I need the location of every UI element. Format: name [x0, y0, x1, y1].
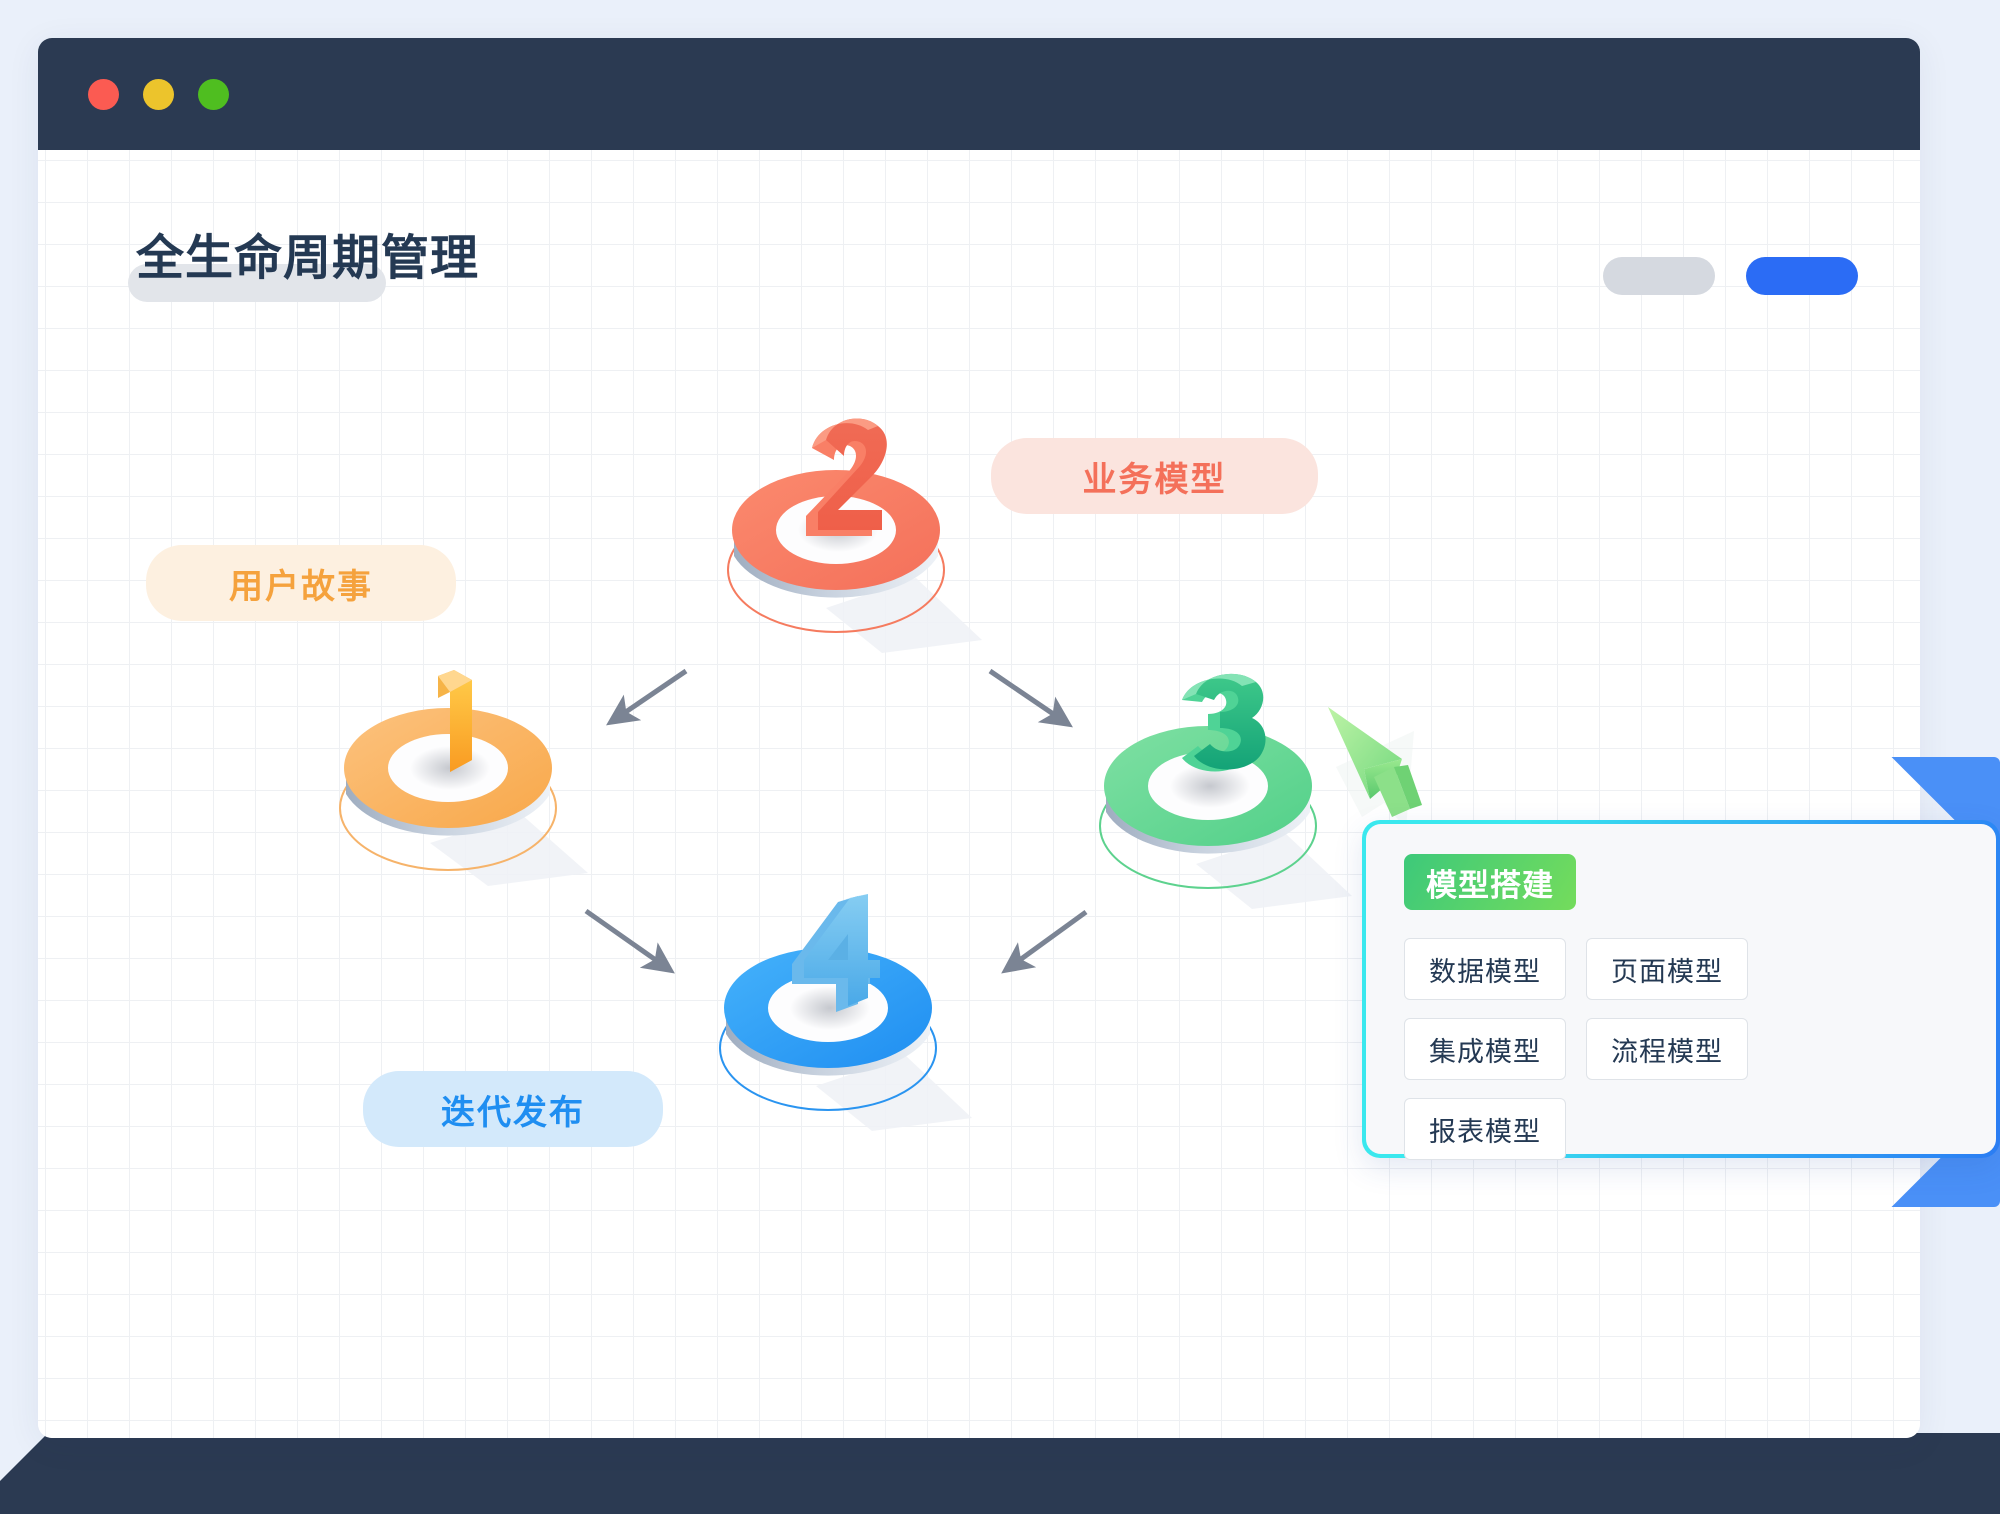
model-chip-report[interactable]: 报表模型 [1404, 1098, 1566, 1160]
label-user-story: 用户故事 [146, 545, 456, 621]
model-build-tag[interactable]: 模型搭建 [1404, 854, 1576, 910]
step-podium-3[interactable] [1098, 676, 1348, 916]
model-build-panel: 模型搭建 数据模型 页面模型 集成模型 流程模型 报表模型 [1362, 820, 2000, 1158]
step-podium-1[interactable] [338, 668, 588, 898]
close-button[interactable] [88, 79, 119, 110]
header-primary-button[interactable] [1746, 257, 1858, 295]
page-title-group: 全生命周期管理 [136, 218, 479, 288]
diagram-canvas [38, 150, 1920, 1438]
model-chip-data[interactable]: 数据模型 [1404, 938, 1566, 1000]
screenshot-stage: 全生命周期管理 用户故事 业务模型 迭代发布 [0, 0, 2000, 1514]
model-chip-page[interactable]: 页面模型 [1586, 938, 1748, 1000]
step-podium-4[interactable] [718, 898, 968, 1143]
browser-window: 全生命周期管理 用户故事 业务模型 迭代发布 [38, 38, 1920, 1438]
window-titlebar [38, 38, 1920, 150]
label-business-model: 业务模型 [991, 438, 1318, 514]
model-panel-body: 模型搭建 数据模型 页面模型 集成模型 流程模型 报表模型 [1366, 824, 1996, 1154]
device-stand [0, 1433, 2000, 1514]
model-chip-integration[interactable]: 集成模型 [1404, 1018, 1566, 1080]
label-iteration-release: 迭代发布 [363, 1071, 663, 1147]
header-secondary-button[interactable] [1603, 257, 1715, 295]
model-chip-grid: 数据模型 页面模型 集成模型 流程模型 报表模型 [1404, 938, 1924, 1160]
number-3-3d [1182, 674, 1266, 772]
page-title: 全生命周期管理 [136, 218, 479, 288]
model-chip-process[interactable]: 流程模型 [1586, 1018, 1748, 1080]
step-podium-2[interactable] [726, 418, 976, 663]
minimize-button[interactable] [143, 79, 174, 110]
maximize-button[interactable] [198, 79, 229, 110]
